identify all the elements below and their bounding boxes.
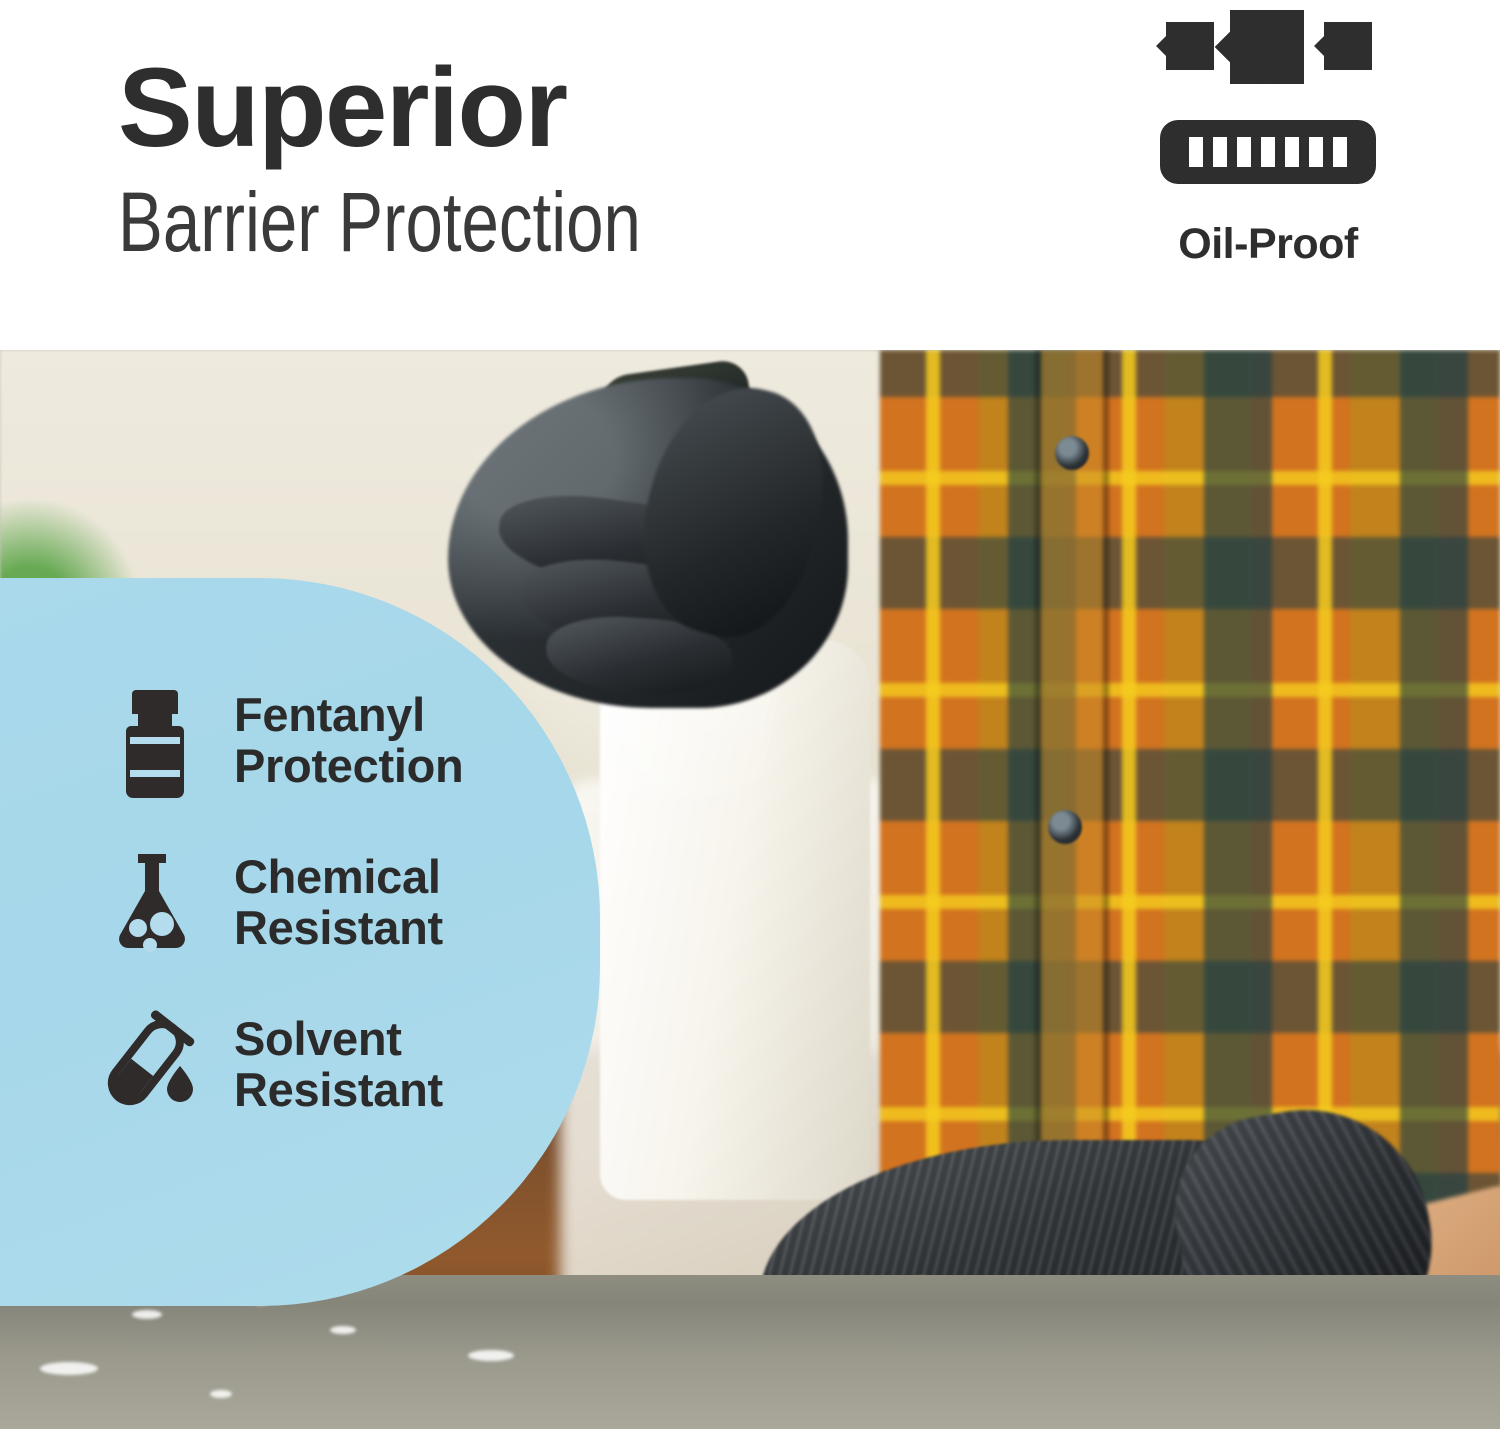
- list-item: Chemical Resistant: [106, 848, 463, 958]
- page-subtitle: Barrier Protection: [118, 178, 742, 266]
- barrier-slot: [1309, 137, 1323, 167]
- marketing-poster: Superior Barrier Protection: [0, 0, 1500, 1429]
- water-drop-icon-left: [1166, 22, 1214, 70]
- barrier-layer-icon: [1160, 120, 1376, 184]
- feature-label: Fentanyl Protection: [234, 690, 463, 792]
- barrier-slot: [1189, 137, 1203, 167]
- barrier-slot: [1333, 137, 1347, 167]
- counter-speck: [40, 1362, 98, 1375]
- list-item: Fentanyl Protection: [106, 686, 463, 796]
- counter-speck: [210, 1390, 232, 1398]
- shirt-button: [1048, 810, 1082, 844]
- feature-label: Chemical Resistant: [234, 852, 443, 954]
- list-item: Solvent Resistant: [106, 1010, 463, 1120]
- barrier-slot: [1261, 137, 1275, 167]
- barrier-slot: [1285, 137, 1299, 167]
- vial-icon: [106, 686, 198, 796]
- test-tube-drop-icon: [106, 1010, 198, 1120]
- water-drop-icon-center: [1230, 10, 1304, 84]
- barrier-slot: [1213, 137, 1227, 167]
- counter-speck: [330, 1326, 356, 1334]
- counter-speck: [132, 1310, 162, 1319]
- barrier-slot: [1237, 137, 1251, 167]
- shirt-button: [1055, 436, 1089, 470]
- page-title: Superior: [118, 52, 898, 164]
- counter-speck: [468, 1350, 514, 1361]
- headline-block: Superior Barrier Protection: [118, 52, 898, 266]
- flask-icon: [106, 848, 198, 958]
- header-band: Superior Barrier Protection: [0, 0, 1500, 350]
- water-drop-icon-right: [1324, 22, 1372, 70]
- feature-list: Fentanyl Protection Chemical Resistant: [106, 686, 463, 1120]
- feature-label: Solvent Resistant: [234, 1014, 443, 1116]
- oil-drops-barrier-icon: [1152, 8, 1384, 198]
- oil-proof-label: Oil-Proof: [1178, 220, 1357, 269]
- oil-proof-badge: Oil-Proof: [1118, 8, 1418, 269]
